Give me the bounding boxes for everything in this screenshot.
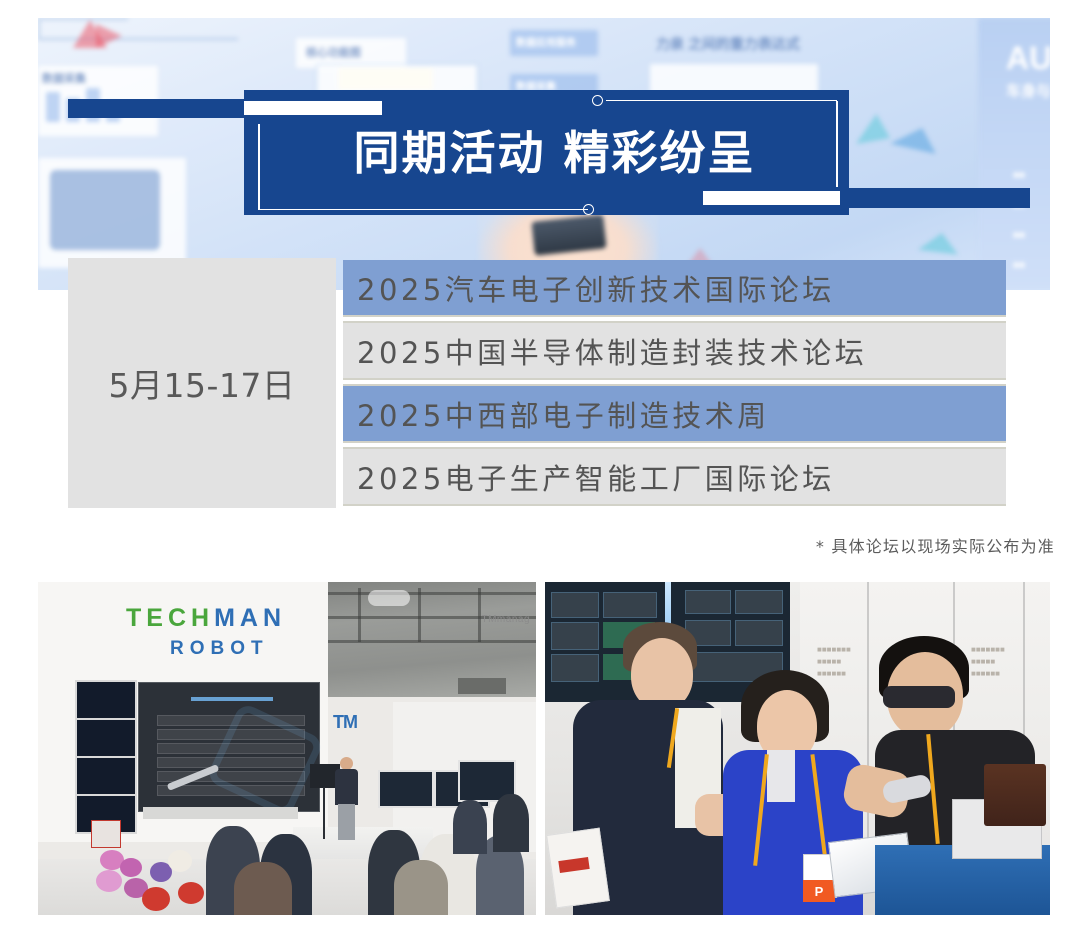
tm-logo-sign: TM (333, 712, 373, 746)
booth-side-text: TMmanag (481, 614, 530, 625)
event-date-box: 5月15-17日 (68, 258, 336, 508)
hero-screen-box-label-2: 数据应用服务 (516, 34, 576, 49)
banner-left-accent-inset (244, 101, 382, 115)
forum-list: 2025汽车电子创新技术国际论坛 2025中国半导体制造封装技术论坛 2025中… (343, 260, 1006, 509)
forum-label: 2025中西部电子制造技术周 (357, 393, 770, 435)
hero-screen-au-heading: AU (1006, 40, 1050, 77)
forum-list-item[interactable]: 2025汽车电子创新技术国际论坛 (343, 260, 1006, 315)
forum-list-item[interactable]: 2025中国半导体制造封装技术论坛 (343, 323, 1006, 378)
visitor-badge: P (803, 880, 835, 902)
bracket-dot-bottom-icon (583, 204, 594, 215)
forum-footnote: * 具体论坛以现场实际公布为准 (816, 533, 1055, 557)
hero-screen-au-sub: 车身与 (1006, 80, 1050, 101)
bracket-dot-top-icon (592, 95, 603, 106)
forum-separator (343, 378, 1006, 386)
forum-separator (343, 504, 1006, 509)
forum-label: 2025汽车电子创新技术国际论坛 (357, 267, 835, 309)
photo-techman-robot-booth: TECHMAN ROBOT TMmanag TM (38, 582, 536, 915)
event-date-text: 5月15-17日 (109, 359, 296, 407)
hero-screen-mid-label: 力泉 之间的重力表达式 (656, 34, 800, 54)
page-title: 同期活动 精彩纷呈 (244, 130, 849, 176)
forum-list-item[interactable]: 2025电子生产智能工厂国际论坛 (343, 449, 1006, 504)
booth-presenter (333, 757, 359, 839)
forum-separator (343, 315, 1006, 323)
bracket-line-top (606, 100, 837, 102)
hero-screen-box-label-1: 核心功能图 (306, 44, 361, 60)
forum-separator (343, 441, 1006, 449)
forum-label: 2025电子生产智能工厂国际论坛 (357, 456, 835, 498)
bracket-line-left (258, 124, 260, 210)
hero-screen-label-left: 数据采集 (42, 70, 86, 86)
forum-list-item[interactable]: 2025中西部电子制造技术周 (343, 386, 1006, 441)
bracket-line-bottom (258, 209, 588, 211)
techman-brand-sub: ROBOT (170, 638, 269, 660)
forum-label: 2025中国半导体制造封装技术论坛 (357, 330, 867, 372)
booth-presentation-screen (138, 682, 320, 812)
booth-side-monitor (75, 718, 137, 758)
bracket-line-right (836, 101, 838, 187)
photo-visitors-at-booth: ■■■■■■■■■■■■■■■■■■ ■■■■■■■■■■■■■■■■■■ P (545, 582, 1050, 915)
techman-brand-text: TECHMAN (126, 604, 286, 633)
booth-side-monitor (75, 756, 137, 796)
banner-right-accent-inset (703, 191, 840, 205)
booth-side-monitor (75, 680, 137, 720)
